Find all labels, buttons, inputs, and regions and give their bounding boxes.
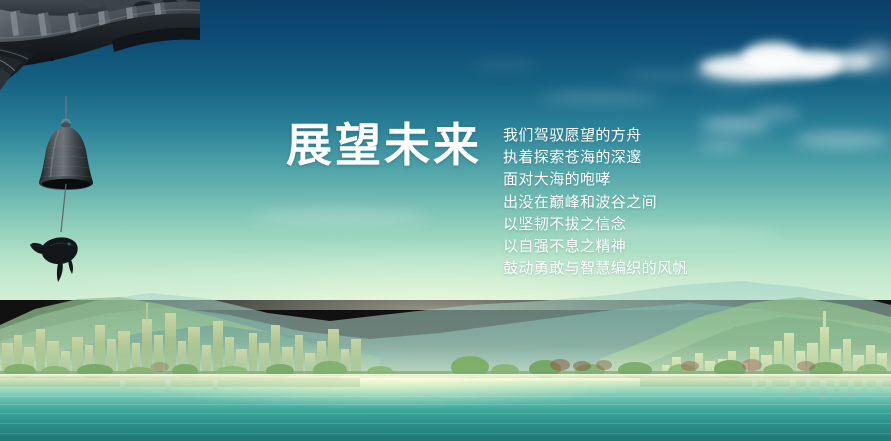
- poem-line: 面对大海的咆哮: [503, 168, 713, 190]
- cloud-icon: [540, 92, 660, 104]
- cloud-icon: [620, 70, 710, 80]
- fish-clapper-icon: [30, 237, 78, 282]
- inspirational-banner: 展望未来 我们驾驭愿望的方舟 执着探索苍海的深邃 面对大海的咆哮 出没在巅峰和波…: [0, 0, 891, 441]
- poem-line: 以自强不息之精神: [503, 235, 713, 257]
- cloud-icon: [855, 46, 891, 68]
- cloud-icon: [698, 62, 768, 80]
- cloud-icon: [752, 108, 800, 119]
- water-reflections: [0, 378, 891, 441]
- poem-line: 鼓动勇敢与智慧编织的风帆: [503, 257, 713, 279]
- cloud-icon: [470, 60, 540, 69]
- poem-block: 我们驾驭愿望的方舟 执着探索苍海的深邃 面对大海的咆哮 出没在巅峰和波谷之间 以…: [503, 124, 713, 279]
- poem-line: 执着探索苍海的深邃: [503, 146, 713, 168]
- poem-line: 出没在巅峰和波谷之间: [503, 191, 713, 213]
- poem-line: 我们驾驭愿望的方舟: [503, 124, 713, 146]
- wind-chime-bell-icon: [28, 96, 108, 296]
- poem-line: 以坚韧不拔之信念: [503, 213, 713, 235]
- page-title: 展望未来: [286, 122, 482, 168]
- cloud-icon: [795, 132, 891, 148]
- landscape-scene: [0, 255, 891, 390]
- cloud-icon: [250, 210, 430, 224]
